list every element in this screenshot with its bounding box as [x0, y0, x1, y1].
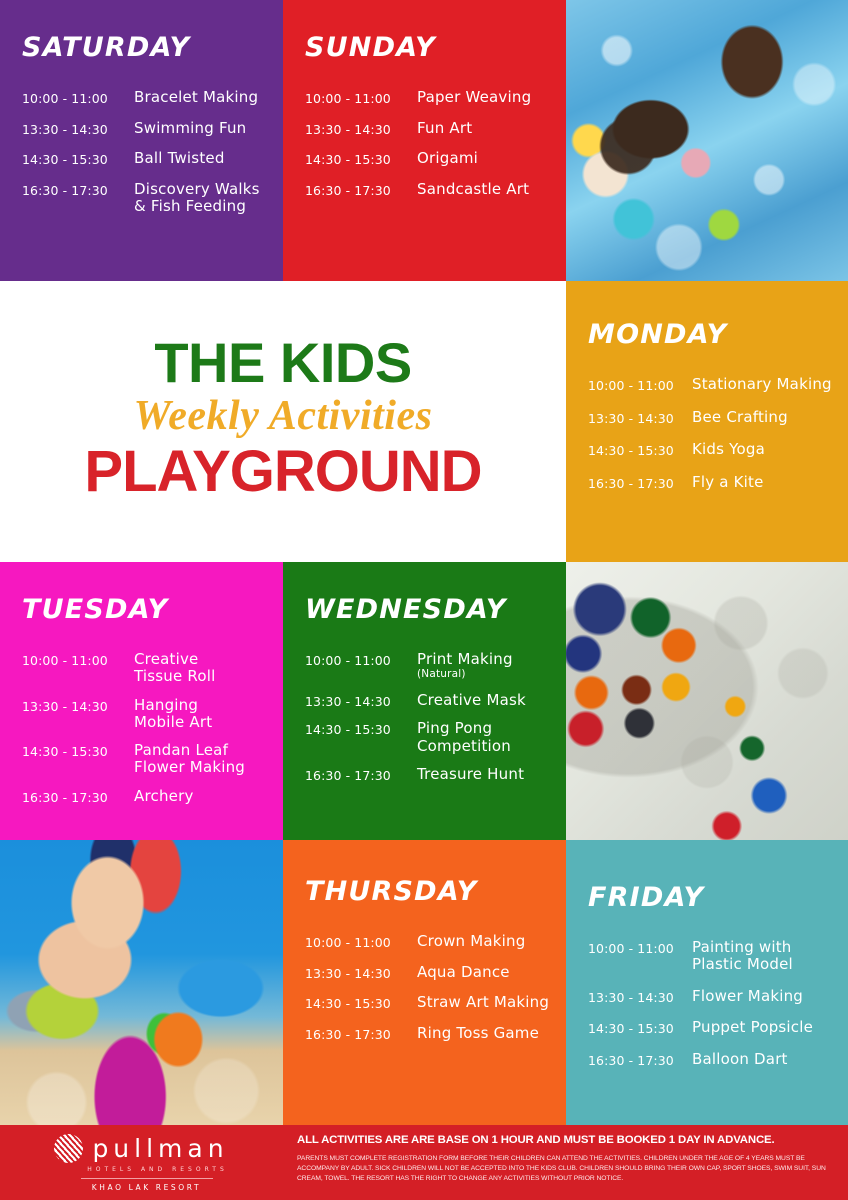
logo-tagline: HOTELS AND RESORTS	[87, 1166, 228, 1173]
activity-row: 10:00 - 11:00 Painting withPlastic Model	[588, 939, 848, 974]
activity-row: 14:30 - 15:30 Ball Twisted	[22, 150, 283, 168]
activity-name-note: (Natural)	[417, 668, 513, 681]
brand-logo: pullman HOTELS AND RESORTS KHAO LAK RESO…	[0, 1125, 283, 1200]
activity-name: Crown Making	[417, 933, 525, 950]
activity-name: Stationary Making	[692, 376, 832, 393]
logo-divider	[81, 1178, 213, 1179]
activity-name: Print Making (Natural)	[417, 651, 513, 681]
photo-beach-child	[0, 840, 283, 1125]
activity-name: Pandan LeafFlower Making	[134, 742, 245, 777]
logo-wordmark: pullman	[92, 1136, 228, 1161]
activity-name: Flower Making	[692, 988, 803, 1005]
activity-row: 16:30 - 17:30 Archery	[22, 788, 283, 806]
logo-top: pullman	[54, 1134, 228, 1163]
day-panel-thursday: THURSDAY 10:00 - 11:00 Crown Making 13:3…	[283, 840, 566, 1125]
activity-time: 16:30 - 17:30	[305, 766, 417, 784]
photo-pool-kids	[566, 0, 848, 281]
photo-crayons	[566, 562, 848, 840]
activity-row: 14:30 - 15:30 Origami	[305, 150, 566, 168]
activity-list-wednesday: 10:00 - 11:00 Print Making (Natural) 13:…	[305, 651, 566, 795]
activity-time: 13:30 - 14:30	[588, 988, 692, 1006]
poster-title-block: THE KIDS Weekly Activities PLAYGROUND	[0, 281, 566, 562]
activity-name: Creative Mask	[417, 692, 526, 709]
activity-name: Swimming Fun	[134, 120, 246, 137]
activity-time: 16:30 - 17:30	[22, 181, 134, 199]
activity-list-monday: 10:00 - 11:00 Stationary Making 13:30 - …	[588, 376, 848, 507]
activity-time: 14:30 - 15:30	[305, 994, 417, 1012]
activity-time: 10:00 - 11:00	[588, 939, 692, 957]
day-title-thursday: THURSDAY	[305, 878, 566, 905]
activity-name: Straw Art Making	[417, 994, 549, 1011]
footer-disclaimer: PARENTS MUST COMPLETE REGISTRATION FORM …	[297, 1154, 834, 1185]
activity-row: 14:30 - 15:30 Pandan LeafFlower Making	[22, 742, 283, 777]
activity-time: 13:30 - 14:30	[588, 409, 692, 427]
activity-row: 13:30 - 14:30 Bee Crafting	[588, 409, 848, 427]
activity-time: 10:00 - 11:00	[305, 651, 417, 669]
title-line-the-kids: THE KIDS	[154, 334, 411, 391]
activity-row: 13:30 - 14:30 Fun Art	[305, 120, 566, 138]
activity-time: 16:30 - 17:30	[305, 1025, 417, 1043]
activity-name-main: Print Making	[417, 650, 513, 668]
activity-name: HangingMobile Art	[134, 697, 212, 732]
activity-name: Bee Crafting	[692, 409, 788, 426]
activity-row: 16:30 - 17:30 Balloon Dart	[588, 1051, 848, 1069]
activity-name: CreativeTissue Roll	[134, 651, 215, 686]
footer-notice: ALL ACTIVITIES ARE ARE BASE ON 1 HOUR AN…	[283, 1125, 848, 1200]
day-title-monday: MONDAY	[588, 321, 848, 348]
activity-name: Aqua Dance	[417, 964, 510, 981]
activity-time: 13:30 - 14:30	[305, 692, 417, 710]
activity-row: 10:00 - 11:00 Crown Making	[305, 933, 566, 951]
activity-time: 10:00 - 11:00	[22, 89, 134, 107]
activity-name: Ball Twisted	[134, 150, 225, 167]
footer-headline: ALL ACTIVITIES ARE ARE BASE ON 1 HOUR AN…	[297, 1134, 834, 1148]
day-title-friday: FRIDAY	[588, 884, 848, 911]
activity-time: 14:30 - 15:30	[588, 1019, 692, 1037]
activity-time: 16:30 - 17:30	[588, 1051, 692, 1069]
activity-list-saturday: 10:00 - 11:00 Bracelet Making 13:30 - 14…	[22, 89, 283, 228]
day-panel-saturday: SATURDAY 10:00 - 11:00 Bracelet Making 1…	[0, 0, 283, 281]
activity-row: 13:30 - 14:30 Swimming Fun	[22, 120, 283, 138]
activity-time: 14:30 - 15:30	[305, 150, 417, 168]
day-panel-sunday: SUNDAY 10:00 - 11:00 Paper Weaving 13:30…	[283, 0, 566, 281]
day-panel-tuesday: TUESDAY 10:00 - 11:00 CreativeTissue Rol…	[0, 562, 283, 840]
activity-name: Kids Yoga	[692, 441, 765, 458]
activity-name: Archery	[134, 788, 194, 805]
activity-row: 13:30 - 14:30 Flower Making	[588, 988, 848, 1006]
activity-time: 10:00 - 11:00	[22, 651, 134, 669]
activity-time: 14:30 - 15:30	[305, 720, 417, 738]
activity-time: 16:30 - 17:30	[305, 181, 417, 199]
activity-row: 16:30 - 17:30 Sandcastle Art	[305, 181, 566, 199]
activity-list-sunday: 10:00 - 11:00 Paper Weaving 13:30 - 14:3…	[305, 89, 566, 212]
activity-name: Discovery Walks& Fish Feeding	[134, 181, 260, 216]
activity-time: 10:00 - 11:00	[305, 89, 417, 107]
activity-time: 14:30 - 15:30	[588, 441, 692, 459]
day-title-wednesday: WEDNESDAY	[305, 596, 566, 623]
activity-row: 13:30 - 14:30 Aqua Dance	[305, 964, 566, 982]
activity-name: Fun Art	[417, 120, 472, 137]
activity-time: 14:30 - 15:30	[22, 742, 134, 760]
activity-time: 13:30 - 14:30	[22, 697, 134, 715]
activity-time: 13:30 - 14:30	[305, 120, 417, 138]
striped-circle-icon	[54, 1134, 83, 1163]
activity-list-tuesday: 10:00 - 11:00 CreativeTissue Roll 13:30 …	[22, 651, 283, 816]
activity-row: 13:30 - 14:30 Creative Mask	[305, 692, 566, 710]
activity-time: 14:30 - 15:30	[22, 150, 134, 168]
activity-list-friday: 10:00 - 11:00 Painting withPlastic Model…	[588, 939, 848, 1082]
activity-time: 10:00 - 11:00	[305, 933, 417, 951]
activity-name: Ring Toss Game	[417, 1025, 539, 1042]
activity-row: 10:00 - 11:00 Print Making (Natural)	[305, 651, 566, 681]
activity-name: Fly a Kite	[692, 474, 764, 491]
day-panel-monday: MONDAY 10:00 - 11:00 Stationary Making 1…	[566, 281, 848, 562]
activity-row: 10:00 - 11:00 Paper Weaving	[305, 89, 566, 107]
activity-row: 14:30 - 15:30 Puppet Popsicle	[588, 1019, 848, 1037]
title-line-playground: PLAYGROUND	[84, 442, 481, 503]
activity-name: Origami	[417, 150, 478, 167]
day-panel-friday: FRIDAY 10:00 - 11:00 Painting withPlasti…	[566, 840, 848, 1125]
activity-name: Treasure Hunt	[417, 766, 524, 783]
activity-row: 10:00 - 11:00 Stationary Making	[588, 376, 848, 394]
day-title-sunday: SUNDAY	[305, 34, 566, 61]
activity-name: Painting withPlastic Model	[692, 939, 793, 974]
logo-property-name: KHAO LAK RESORT	[92, 1183, 202, 1192]
day-title-saturday: SATURDAY	[22, 34, 283, 61]
activity-name: Paper Weaving	[417, 89, 531, 106]
poster-root: SATURDAY 10:00 - 11:00 Bracelet Making 1…	[0, 0, 848, 1200]
activity-time: 10:00 - 11:00	[588, 376, 692, 394]
activity-time: 13:30 - 14:30	[22, 120, 134, 138]
activity-name: Bracelet Making	[134, 89, 258, 106]
day-panel-wednesday: WEDNESDAY 10:00 - 11:00 Print Making (Na…	[283, 562, 566, 840]
activity-row: 10:00 - 11:00 CreativeTissue Roll	[22, 651, 283, 686]
activity-name: Balloon Dart	[692, 1051, 788, 1068]
activity-row: 10:00 - 11:00 Bracelet Making	[22, 89, 283, 107]
activity-name: Puppet Popsicle	[692, 1019, 813, 1036]
activity-row: 16:30 - 17:30 Fly a Kite	[588, 474, 848, 492]
activity-time: 16:30 - 17:30	[588, 474, 692, 492]
activity-row: 16:30 - 17:30 Ring Toss Game	[305, 1025, 566, 1043]
activity-row: 14:30 - 15:30 Straw Art Making	[305, 994, 566, 1012]
activity-time: 16:30 - 17:30	[22, 788, 134, 806]
logo-wrap: pullman HOTELS AND RESORTS KHAO LAK RESO…	[54, 1134, 228, 1192]
title-line-weekly-activities: Weekly Activities	[134, 393, 433, 440]
activity-row: 16:30 - 17:30 Discovery Walks& Fish Feed…	[22, 181, 283, 216]
activity-row: 13:30 - 14:30 HangingMobile Art	[22, 697, 283, 732]
activity-name: Ping PongCompetition	[417, 720, 511, 755]
activity-list-thursday: 10:00 - 11:00 Crown Making 13:30 - 14:30…	[305, 933, 566, 1056]
activity-name: Sandcastle Art	[417, 181, 529, 198]
activity-row: 16:30 - 17:30 Treasure Hunt	[305, 766, 566, 784]
day-title-tuesday: TUESDAY	[22, 596, 283, 623]
activity-time: 13:30 - 14:30	[305, 964, 417, 982]
activity-row: 14:30 - 15:30 Ping PongCompetition	[305, 720, 566, 755]
activity-row: 14:30 - 15:30 Kids Yoga	[588, 441, 848, 459]
